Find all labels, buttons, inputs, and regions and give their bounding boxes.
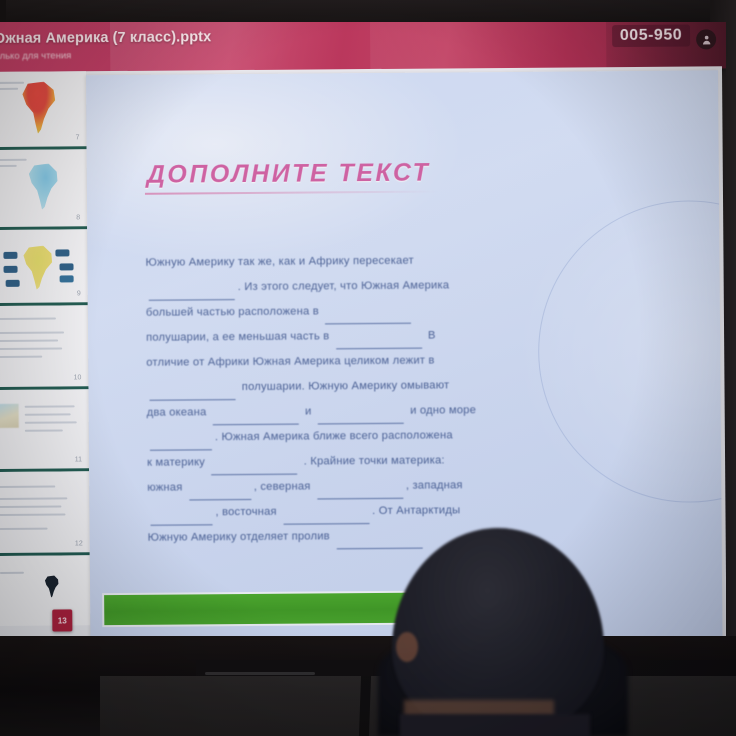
fill-in-blank: [325, 311, 411, 325]
person-ear: [396, 632, 418, 662]
thumbnail-slide-7[interactable]: 7: [0, 71, 87, 150]
slide-text-run: Южную Америку отделяет пролив: [148, 530, 334, 543]
thumbnail-slide-13[interactable]: 13: [0, 555, 90, 626]
photo-thumbnail-icon: [0, 404, 19, 428]
slide-text-run: , западная: [406, 479, 463, 491]
fill-in-blank: [149, 387, 235, 401]
user-icon[interactable]: [696, 29, 716, 49]
thumbnail-slide-11[interactable]: 11: [0, 389, 89, 472]
session-code-badge: 005-950: [612, 25, 690, 48]
thumbnail-slide-9[interactable]: 9: [0, 229, 88, 306]
fill-in-blank: [150, 437, 212, 450]
fill-in-blank: [336, 536, 422, 550]
slide-text-line: , восточная . От Антарктиды: [147, 497, 617, 526]
slide-text-run: . От Антарктиды: [372, 504, 460, 517]
desk-seam: [359, 676, 371, 736]
fill-in-blank: [211, 462, 297, 476]
slide-text-run: два океана: [147, 406, 210, 418]
slide-body-text: Южную Америку так же, как и Африку перес…: [145, 247, 617, 551]
thumbnail-number: 7: [76, 134, 80, 141]
slide-text-run: , восточная: [215, 506, 280, 519]
thumbnail-number: 11: [75, 456, 82, 463]
title-bar-sheen-2: [370, 22, 570, 71]
slide-title: ДОПОЛНИТЕ ТЕКСТ: [147, 159, 431, 190]
thumbnail-number: 12: [75, 540, 83, 547]
slide-text-line: полушарии. Южную Америку омывают: [146, 372, 616, 401]
slide-text-run: и: [302, 405, 315, 417]
slide-text-line: два океана и и одно море: [147, 397, 617, 426]
fill-in-blank: [213, 412, 299, 426]
slide-text-line: полушарии, а ее меньшая часть в В: [146, 322, 616, 351]
south-america-diagram-icon: [21, 246, 55, 290]
fill-in-blank: [336, 336, 422, 350]
fill-in-blank: [317, 486, 403, 500]
slide-text-line: к материку . Крайние точки материка:: [147, 447, 617, 476]
fill-in-blank: [283, 511, 369, 525]
slide-text-run: . Из этого следует, что Южная Америка: [238, 279, 450, 293]
bezel-notch: [205, 672, 315, 675]
slide-text-line: . Южная Америка ближе всего расположена: [147, 422, 617, 451]
slide-text-line: большей частью расположена в: [146, 297, 616, 326]
slide-text-run: Южную Америку так же, как и Африку перес…: [145, 255, 413, 269]
slide-text-run: В: [425, 330, 436, 342]
fill-in-blank: [189, 487, 251, 500]
read-only-label: только для чтения: [0, 50, 71, 62]
thumbnail-number: 8: [76, 214, 80, 221]
document-title: Южная Америка (7 класс).pptx: [0, 29, 211, 47]
south-america-map-dark-icon: [44, 575, 60, 597]
fill-in-blank: [149, 287, 235, 301]
current-slide-badge: 13: [52, 609, 72, 631]
monitor-bezel-top: [0, 0, 736, 24]
slide-text-run: отличие от Африки Южная Америка целиком …: [146, 355, 434, 369]
south-america-map-red-icon: [20, 81, 58, 133]
thumbnail-number: 9: [77, 290, 81, 297]
fill-in-blank: [150, 512, 212, 525]
slide-text-run: полушарии. Южную Америку омывают: [238, 379, 449, 393]
app-body: 7 8 9: [0, 66, 726, 650]
slide-text-run: к материку: [147, 456, 208, 468]
photograph-of-monitor: Южная Америка (7 класс).pptx только для …: [0, 0, 736, 736]
slide-text-run: . Южная Америка ближе всего расположена: [215, 429, 453, 443]
thumbnail-slide-10[interactable]: 10: [0, 305, 88, 390]
slide-text-line: . Из этого следует, что Южная Америка: [146, 272, 616, 301]
slide-text-run: полушарии, а ее меньшая часть в: [146, 330, 333, 343]
monitor-screen: Южная Америка (7 класс).pptx только для …: [0, 22, 726, 650]
slide-text-run: южная: [147, 481, 186, 493]
person-collar: [400, 714, 590, 736]
slide-text-run: . Крайние точки материка:: [300, 454, 444, 467]
thumbnail-slide-12[interactable]: 12: [0, 471, 90, 556]
fill-in-blank: [318, 411, 404, 425]
slide-text-line: южная , северная , западная: [147, 472, 617, 501]
slide-text-run: и одно море: [407, 404, 476, 417]
thumbnail-number: 10: [74, 374, 82, 381]
slide-text-line: Южную Америку так же, как и Африку перес…: [145, 247, 615, 276]
slide-canvas[interactable]: ДОПОЛНИТЕ ТЕКСТ Южную Америку так же, ка…: [86, 70, 723, 650]
slide-text-run: большей частью расположена в: [146, 305, 322, 318]
slide-text-run: , северная: [254, 480, 314, 492]
slide-text-line: отличие от Африки Южная Америка целиком …: [146, 347, 616, 376]
south-america-map-blue-icon: [27, 163, 61, 209]
thumbnail-slide-8[interactable]: 8: [0, 149, 87, 230]
slide-thumbnail-sidebar[interactable]: 7 8 9: [0, 71, 91, 650]
